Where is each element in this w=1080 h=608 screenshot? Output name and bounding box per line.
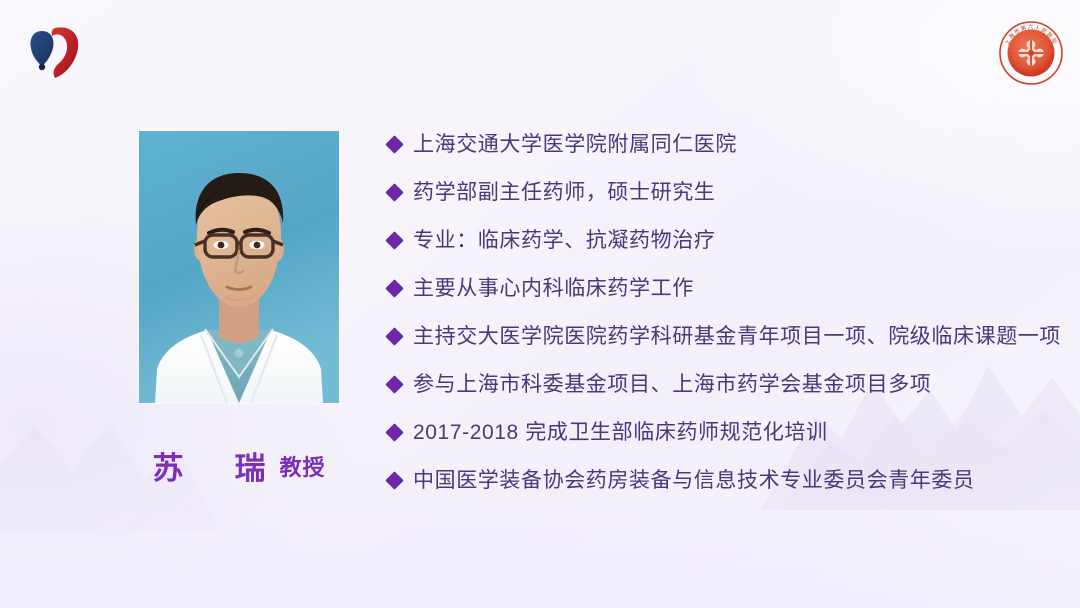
bio-list-item: 上海交通大学医学院附属同仁医院 <box>388 130 1068 178</box>
bio-list-item: 参与上海市科委基金项目、上海市药学会基金项目多项 <box>388 370 1068 418</box>
speaker-caption: 苏 瑞教授 <box>139 443 339 488</box>
diamond-bullet-icon <box>385 423 403 441</box>
diamond-bullet-icon <box>385 183 403 201</box>
diamond-bullet-icon <box>385 279 403 297</box>
speaker-portrait-photo <box>139 131 339 403</box>
slide-canvas: 上海市第六人民医院 SHANGHAI HOSPITAL <box>0 0 1080 608</box>
bio-item-text: 专业：临床药学、抗凝药物治疗 <box>413 226 715 256</box>
bio-item-text: 2017-2018 完成卫生部临床药师规范化培训 <box>413 418 828 448</box>
bio-item-text: 上海交通大学医学院附属同仁医院 <box>413 130 737 160</box>
bio-item-text: 参与上海市科委基金项目、上海市药学会基金项目多项 <box>413 370 931 400</box>
bio-item-text: 中国医学装备协会药房装备与信息技术专业委员会青年委员 <box>413 466 975 496</box>
hospital-seal-logo-icon: 上海市第六人民医院 SHANGHAI HOSPITAL <box>996 18 1066 88</box>
bio-item-text: 主持交大医学院医院药学科研基金青年项目一项、院级临床课题一项 <box>413 322 1061 352</box>
speaker-title: 教授 <box>279 455 325 480</box>
bio-item-text: 药学部副主任药师，硕士研究生 <box>413 178 715 208</box>
bio-list-item: 药学部副主任药师，硕士研究生 <box>388 178 1068 226</box>
speaker-portrait-block: 苏 瑞教授 <box>139 131 339 488</box>
diamond-bullet-icon <box>385 471 403 489</box>
diamond-bullet-icon <box>385 327 403 345</box>
diamond-bullet-icon <box>385 135 403 153</box>
bio-bullet-list: 上海交通大学医学院附属同仁医院 药学部副主任药师，硕士研究生 专业：临床药学、抗… <box>388 130 1068 514</box>
bio-list-item: 主持交大医学院医院药学科研基金青年项目一项、院级临床课题一项 <box>388 322 1068 370</box>
bio-list-item: 中国医学装备协会药房装备与信息技术专业委员会青年委员 <box>388 466 1068 514</box>
diamond-bullet-icon <box>385 375 403 393</box>
speaker-name: 苏 瑞 <box>152 451 275 486</box>
bio-list-item: 专业：临床药学、抗凝药物治疗 <box>388 226 1068 274</box>
bio-list-item: 主要从事心内科临床药学工作 <box>388 274 1068 322</box>
bio-item-text: 主要从事心内科临床药学工作 <box>413 274 694 304</box>
diamond-bullet-icon <box>385 231 403 249</box>
bio-list-item: 2017-2018 完成卫生部临床药师规范化培训 <box>388 418 1068 466</box>
ribbon-swoosh-logo-icon <box>22 20 88 82</box>
